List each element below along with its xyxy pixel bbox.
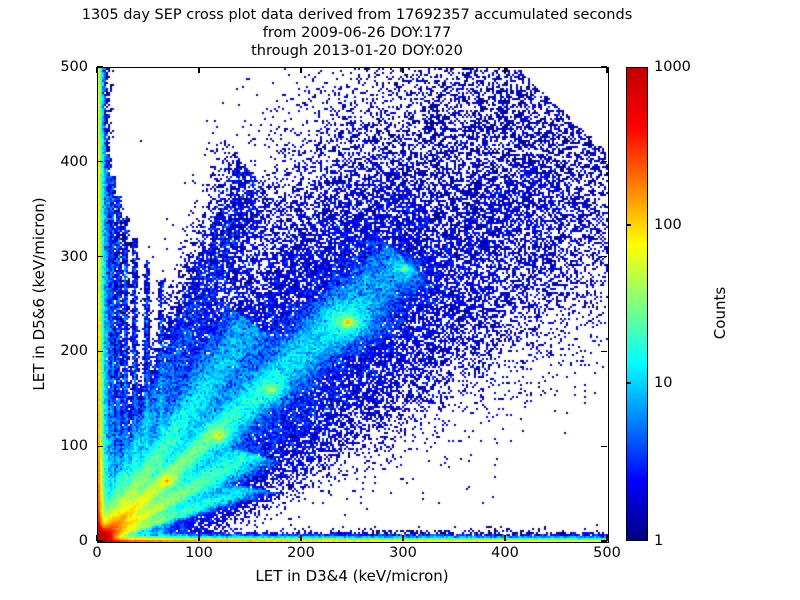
plot-area [97,67,609,543]
y-tick-mark [97,351,103,352]
y-tick-mark [601,161,607,162]
y-tick-mark [601,540,607,541]
x-tick-label: 500 [593,545,621,561]
y-tick-mark [97,446,103,447]
y-tick-mark [601,66,607,67]
x-tick-mark [198,535,199,541]
x-tick-label: 100 [185,545,213,561]
chart-title-line-1: 1305 day SEP cross plot data derived fro… [0,6,714,24]
y-tick-label: 0 [28,533,88,549]
y-tick-mark [97,161,103,162]
chart-title: 1305 day SEP cross plot data derived fro… [0,6,714,60]
colorbar-gradient [626,67,648,541]
y-tick-mark [97,540,103,541]
x-tick-mark [96,67,97,73]
x-tick-mark [504,67,505,73]
x-axis-label: LET in D3&4 (keV/micron) [97,567,607,585]
x-tick-mark [606,67,607,73]
x-tick-mark [504,535,505,541]
x-tick-mark [402,535,403,541]
y-axis-label: LET in D5&6 (keV/micron) [30,94,48,494]
y-tick-mark [601,256,607,257]
colorbar-tick-mark [626,224,631,225]
y-tick-mark [97,256,103,257]
colorbar-label: Counts [711,193,729,433]
y-tick-label: 500 [28,59,88,75]
x-tick-label: 300 [389,545,417,561]
y-tick-mark [601,446,607,447]
x-tick-label: 0 [92,545,101,561]
colorbar-tick-label: 100 [654,217,682,233]
chart-title-line-3: through 2013-01-20 DOY:020 [0,42,714,60]
y-tick-mark [601,351,607,352]
figure-canvas: 1305 day SEP cross plot data derived fro… [0,0,800,600]
y-tick-mark [97,66,103,67]
colorbar-tick-label: 1000 [654,59,691,75]
x-tick-mark [300,535,301,541]
x-tick-mark [198,67,199,73]
x-tick-label: 400 [491,545,519,561]
colorbar-tick-label: 1 [654,533,663,549]
heatmap-canvas [98,68,608,542]
chart-title-line-2: from 2009-06-26 DOY:177 [0,24,714,42]
x-tick-mark [300,67,301,73]
x-tick-label: 200 [287,545,315,561]
x-tick-mark [402,67,403,73]
colorbar [626,67,648,541]
colorbar-tick-label: 10 [654,375,672,391]
colorbar-tick-mark [626,382,631,383]
